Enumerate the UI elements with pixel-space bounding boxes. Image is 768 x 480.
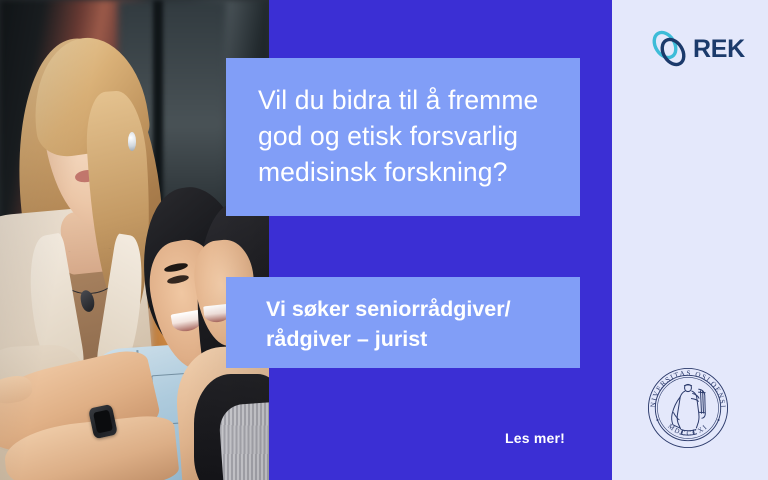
job-title-box: Vi søker seniorrådgiver/ rådgiver – juri… [226, 277, 580, 368]
headline-box: Vil du bidra til å fremme god og etisk f… [226, 58, 580, 216]
rek-wordmark: REK [693, 37, 745, 62]
recruitment-banner: Vil du bidra til å fremme god og etisk f… [0, 0, 768, 480]
read-more-link[interactable]: Les mer! [505, 430, 565, 446]
rek-logo[interactable]: REK [648, 26, 740, 72]
svg-text:UNIVERSITAS OSLOENSIS: UNIVERSITAS OSLOENSIS [645, 365, 727, 409]
headline-line-1: Vil du bidra til å fremme [258, 82, 554, 118]
job-title-line-2: rådgiver – jurist [266, 324, 560, 354]
job-title-line-1: Vi søker seniorrådgiver/ [266, 294, 560, 324]
uio-seal: UNIVERSITAS OSLOENSIS MDCCCXI [645, 365, 731, 451]
rek-interlocking-rings-icon [648, 27, 692, 71]
headline-line-3: medisinsk forskning? [258, 154, 554, 190]
headline-line-2: god og etisk forsvarlig [258, 118, 554, 154]
